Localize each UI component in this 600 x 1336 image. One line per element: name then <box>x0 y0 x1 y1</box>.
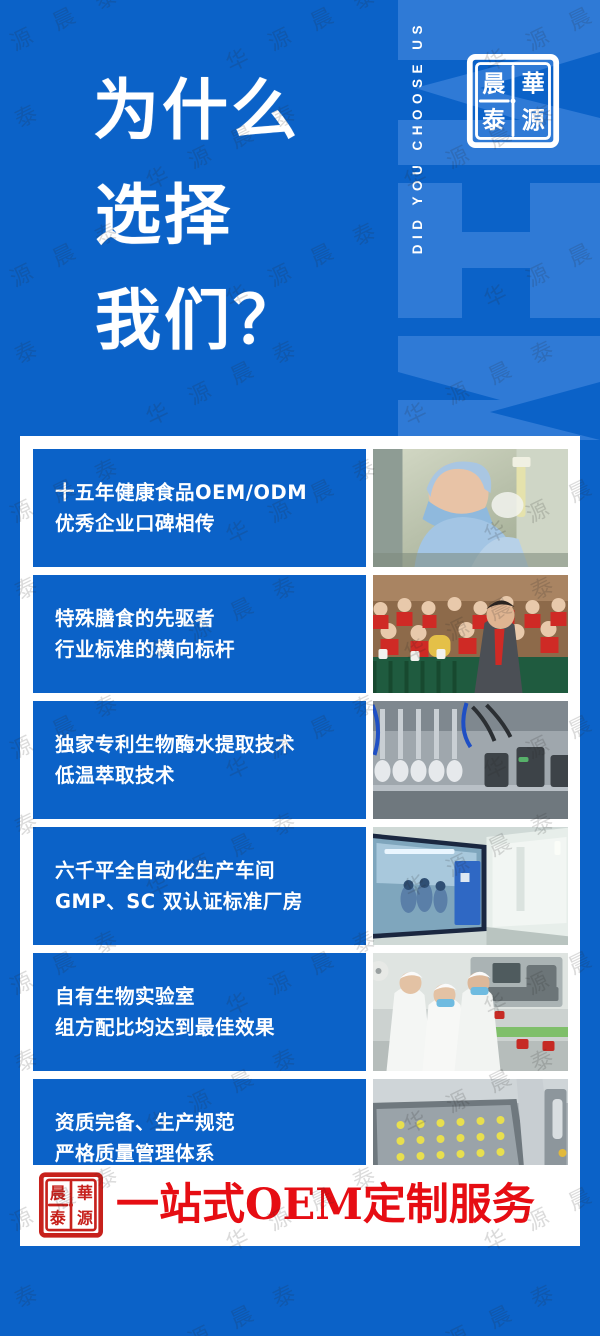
page-title-line-2: 选择 <box>93 163 302 268</box>
svg-text:源: 源 <box>77 1208 93 1227</box>
cleanroom-workshop-corridor-photo <box>373 827 568 945</box>
feature-text: 六千平全自动化生产车间 GMP、SC 双认证标准厂房 <box>33 827 366 945</box>
svg-text:晨: 晨 <box>482 70 506 97</box>
feature-row: 六千平全自动化生产车间 GMP、SC 双认证标准厂房 <box>33 827 568 945</box>
feature-line-1: 资质完备、生产规范 <box>55 1107 366 1138</box>
feature-row: 十五年健康食品OEM/ODM 优秀企业口碑相传 <box>33 449 568 567</box>
bottom-banner: 晨 泰 華 源 一站式OEM定制服务 <box>20 1165 580 1245</box>
watermark-text: 华 源 晨 泰 <box>140 1272 309 1336</box>
feature-line-2: 低温萃取技术 <box>55 760 366 791</box>
features-panel: 十五年健康食品OEM/ODM 优秀企业口碑相传 <box>20 436 580 1246</box>
company-seal-logo-red: 晨 泰 華 源 <box>38 1172 104 1238</box>
feature-line-1: 十五年健康食品OEM/ODM <box>55 477 366 508</box>
feature-line-1: 六千平全自动化生产车间 <box>55 855 366 886</box>
watermark-text: 华 源 晨 泰 <box>0 1272 50 1336</box>
watermark-text: 华 源 晨 泰 <box>398 1272 567 1336</box>
banner-slogan: 一站式OEM定制服务 <box>116 1184 535 1227</box>
feature-text: 特殊膳食的先驱者 行业标准的横向标杆 <box>33 575 366 693</box>
poster-root: DID YOU CHOOSE US 晨 泰 華 源 为什么 选择 我们？ <box>0 0 600 1336</box>
vertical-tagline-text: DID YOU CHOOSE US <box>411 20 425 254</box>
feature-line-2: 优秀企业口碑相传 <box>55 508 366 539</box>
feature-line-1: 特殊膳食的先驱者 <box>55 603 366 634</box>
feature-text: 十五年健康食品OEM/ODM 优秀企业口碑相传 <box>33 449 366 567</box>
page-title: 为什么 选择 我们？ <box>93 58 302 373</box>
feature-text: 独家专利生物酶水提取技术 低温萃取技术 <box>33 701 366 819</box>
company-seal-logo: 晨 泰 華 源 <box>465 52 561 150</box>
watermark-row: 华 源 晨 泰华 源 晨 泰华 源 晨 泰华 源 晨 泰华 源 晨 泰 <box>0 10 600 42</box>
page-title-line-1: 为什么 <box>93 58 302 163</box>
filling-machine-production-line-photo <box>373 701 568 819</box>
industry-conference-audience-photo <box>373 575 568 693</box>
feature-row: 特殊膳食的先驱者 行业标准的横向标杆 <box>33 575 568 693</box>
page-title-line-3: 我们？ <box>93 268 302 373</box>
feature-line-2: GMP、SC 双认证标准厂房 <box>55 886 366 917</box>
watermark-text: 华 源 晨 泰 <box>0 328 50 432</box>
svg-text:晨: 晨 <box>50 1183 66 1202</box>
watermark-text: 华 源 晨 泰 <box>0 92 50 196</box>
watermark-row: 华 源 晨 泰华 源 晨 泰华 源 晨 泰华 源 晨 泰华 源 晨 泰 <box>0 1308 600 1336</box>
feature-line-1: 独家专利生物酶水提取技术 <box>55 729 366 760</box>
svg-text:華: 華 <box>77 1183 93 1202</box>
feature-line-2: 行业标准的横向标杆 <box>55 634 366 665</box>
svg-text:泰: 泰 <box>49 1208 66 1227</box>
svg-text:泰: 泰 <box>481 107 506 134</box>
feature-line-1: 自有生物实验室 <box>55 981 366 1012</box>
vertical-tagline: DID YOU CHOOSE US <box>405 20 431 400</box>
feature-text: 自有生物实验室 组方配比均达到最佳效果 <box>33 953 366 1071</box>
svg-text:華: 華 <box>522 70 545 97</box>
staff-inspecting-packaging-line-photo <box>373 953 568 1071</box>
svg-text:源: 源 <box>522 107 545 134</box>
feature-row: 自有生物实验室 组方配比均达到最佳效果 <box>33 953 568 1071</box>
feature-line-2: 组方配比均达到最佳效果 <box>55 1012 366 1043</box>
features-list: 十五年健康食品OEM/ODM 优秀企业口碑相传 <box>33 449 568 1197</box>
lab-technician-testing-sample-photo <box>373 449 568 567</box>
feature-row: 独家专利生物酶水提取技术 低温萃取技术 <box>33 701 568 819</box>
watermark-text: 华 源 晨 泰 <box>478 210 600 314</box>
